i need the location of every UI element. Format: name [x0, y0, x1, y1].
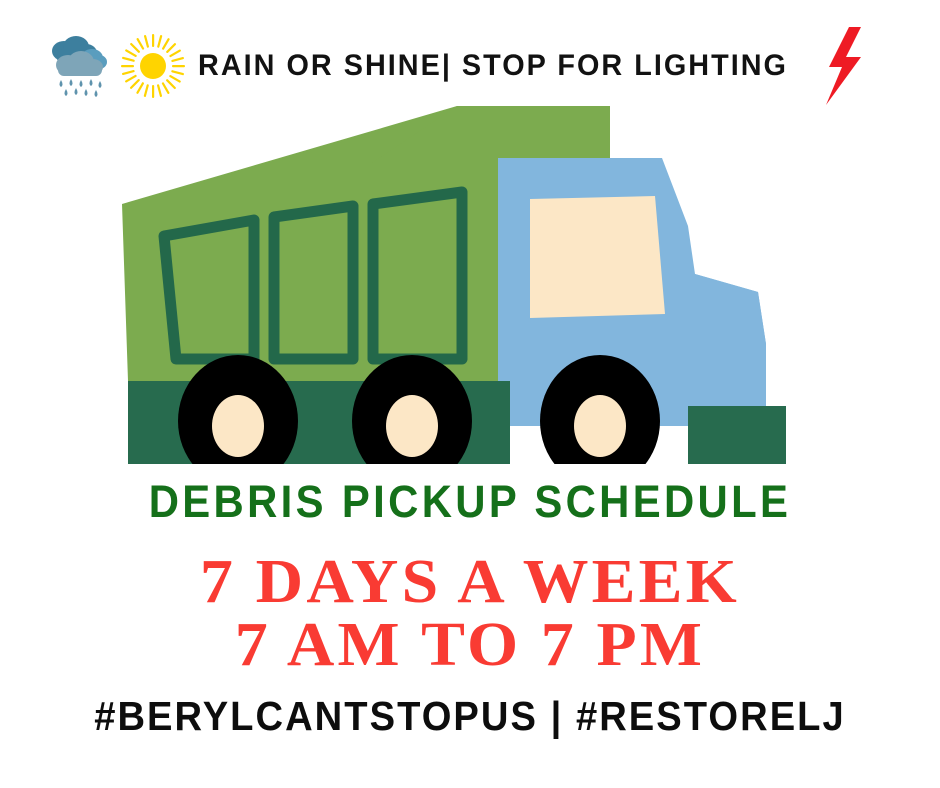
lightning-bolt-icon — [821, 27, 865, 105]
truck-cab-nose — [695, 274, 766, 344]
schedule-days: 7 DAYS A WEEK — [0, 551, 940, 613]
dump-truck-svg — [110, 96, 810, 464]
debris-pickup-flyer: RAIN OR SHINE| STOP FOR LIGHTING — [0, 0, 940, 788]
hashtag-line: #BERYLCANTSTOPUS | #RESTORELJ — [33, 696, 907, 737]
hub-rear-2 — [386, 395, 438, 457]
truck-wheels — [178, 355, 660, 464]
truck-bumper — [688, 406, 786, 464]
sun-icon — [120, 33, 186, 99]
dump-truck-illustration — [110, 96, 810, 464]
page-title: DEBRIS PICKUP SCHEDULE — [33, 479, 907, 524]
rain-cloud-icon — [40, 29, 114, 103]
truck-window — [530, 196, 665, 318]
hub-rear-1 — [212, 395, 264, 457]
schedule-hours: 7 AM TO 7 PM — [0, 614, 940, 676]
header-tagline: RAIN OR SHINE| STOP FOR LIGHTING — [198, 51, 788, 81]
hub-front — [574, 395, 626, 457]
